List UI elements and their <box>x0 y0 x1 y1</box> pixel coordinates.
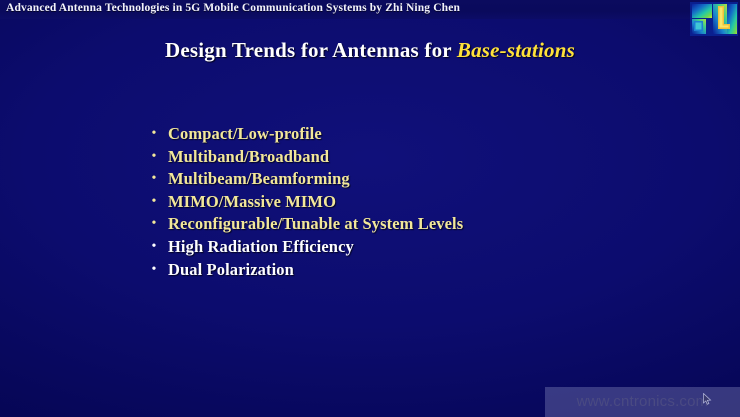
list-item-label: Reconfigurable/Tunable at System Levels <box>168 213 463 236</box>
bullet-list: • Compact/Low-profile • Multiband/Broadb… <box>145 123 665 281</box>
list-item: • Multibeam/Beamforming <box>145 168 665 191</box>
bullet-marker-icon: • <box>149 236 159 259</box>
bullet-marker-icon: • <box>149 259 159 282</box>
slide-title-main: Design Trends for Antennas for <box>165 38 457 62</box>
bullet-marker-icon: • <box>149 213 159 236</box>
bullet-marker-icon: • <box>149 191 159 214</box>
list-item: • Reconfigurable/Tunable at System Level… <box>145 213 665 236</box>
bullet-marker-icon: • <box>149 123 159 146</box>
slide-title-accent: Base-stations <box>457 38 575 62</box>
watermark-overlay: www.cntronics.com <box>545 387 740 417</box>
slide-title: Design Trends for Antennas for Base-stat… <box>0 38 740 63</box>
presentation-slide: Advanced Antenna Technologies in 5G Mobi… <box>0 0 740 417</box>
list-item: • MIMO/Massive MIMO <box>145 191 665 214</box>
mouse-cursor-icon <box>703 393 712 405</box>
presentation-header-title: Advanced Antenna Technologies in 5G Mobi… <box>6 2 460 14</box>
bullet-marker-icon: • <box>149 168 159 191</box>
list-item-label: Multibeam/Beamforming <box>168 168 350 191</box>
list-item: • Multiband/Broadband <box>145 146 665 169</box>
list-item-label: Dual Polarization <box>168 259 294 282</box>
list-item: • Compact/Low-profile <box>145 123 665 146</box>
em-field-simulation-thumbnail-icon <box>690 2 738 36</box>
bullet-marker-icon: • <box>149 146 159 169</box>
list-item-label: Multiband/Broadband <box>168 146 329 169</box>
list-item-label: MIMO/Massive MIMO <box>168 191 336 214</box>
list-item-label: Compact/Low-profile <box>168 123 322 146</box>
slide-header-band: Advanced Antenna Technologies in 5G Mobi… <box>0 0 740 19</box>
list-item: • High Radiation Efficiency <box>145 236 665 259</box>
list-item: • Dual Polarization <box>145 259 665 282</box>
list-item-label: High Radiation Efficiency <box>168 236 354 259</box>
